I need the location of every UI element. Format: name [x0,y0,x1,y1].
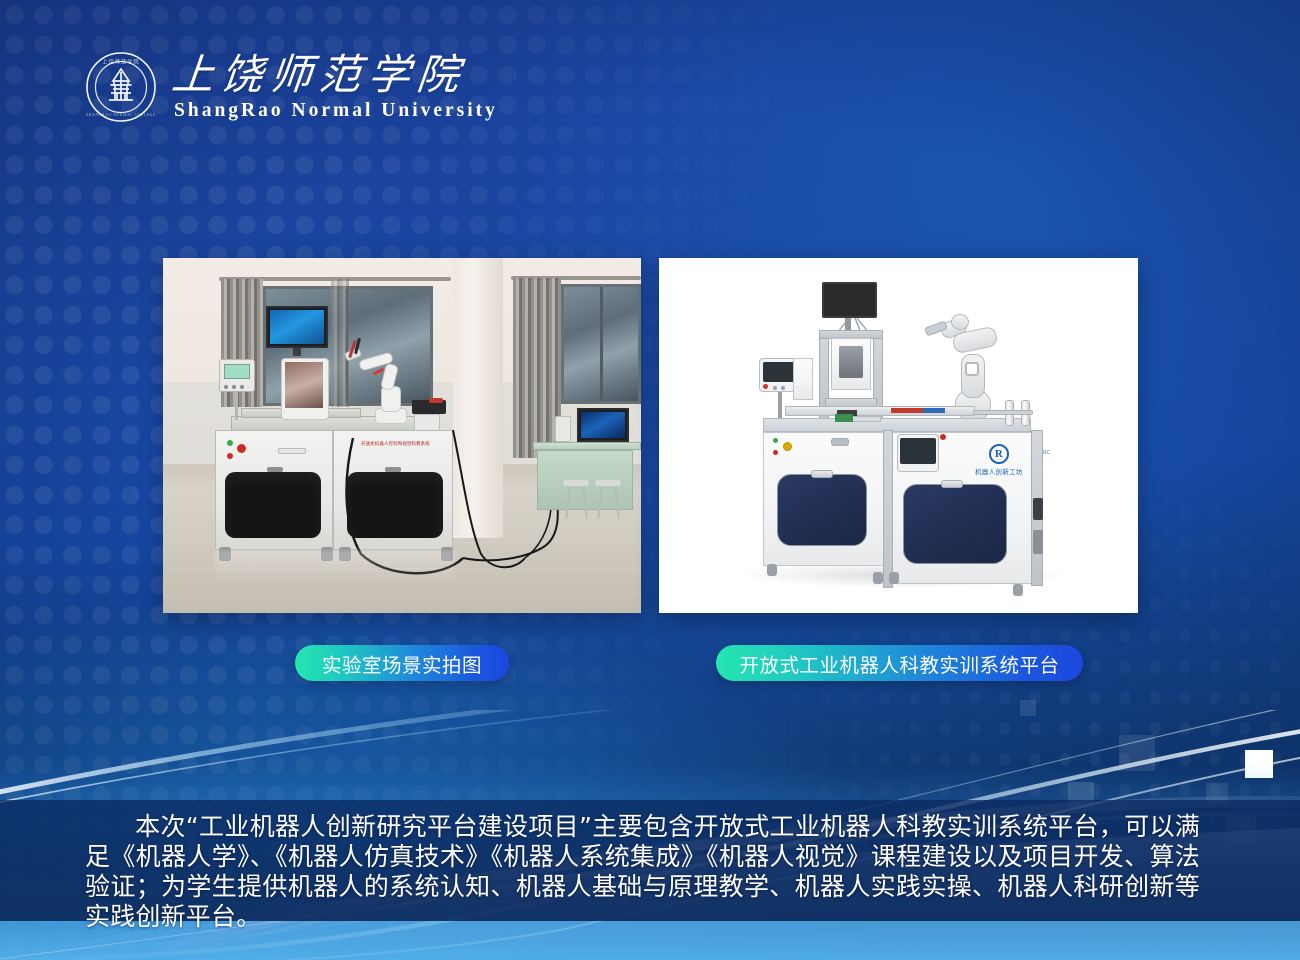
product-hmi-right [897,434,939,472]
caption-pill-product-render[interactable]: 开放式工业机器人科教实训系统平台 [716,645,1083,681]
decor-square [1020,700,1036,716]
lab-photo-scene: 开放式机器人控制和视觉科教系统 [163,258,641,613]
caption-label: 实验室场景实拍图 [322,649,482,678]
lab-desk-monitor [577,408,629,442]
product-render-photo[interactable]: R 机器人创新工坊 RC [659,258,1138,613]
product-door-window-right [903,484,1007,564]
lab-desk [533,442,641,450]
svg-text:上饶师范学院: 上饶师范学院 [102,58,139,66]
caption-label: 开放式工业机器人科教实训系统平台 [739,649,1059,678]
slide-canvas: 上饶师范学院 SHANGRAO NORMAL COLLEGE 上饶师范学院 Sh… [0,0,1300,960]
paragraph-text: 本次“工业机器人创新研究平台建设项目”主要包含开放式工业机器人科教实训系统平台，… [85,812,1200,931]
decor-square [1119,735,1155,771]
product-render-scene: R 机器人创新工坊 RC [659,258,1138,613]
product-door-window-left [777,474,867,546]
decor-square-highlight [1245,750,1273,778]
svg-text:SHANGRAO NORMAL COLLEGE: SHANGRAO NORMAL COLLEGE [86,113,156,117]
university-logo: 上饶师范学院 SHANGRAO NORMAL COLLEGE 上饶师范学院 Sh… [84,50,498,124]
product-monitor [822,282,877,318]
logo-name-en: ShangRao Normal University [172,100,498,122]
description-paragraph: 本次“工业机器人创新研究平台建设项目”主要包含开放式工业机器人科教实训系统平台，… [85,812,1200,932]
university-seal-icon: 上饶师范学院 SHANGRAO NORMAL COLLEGE [84,50,158,124]
logo-name-cn: 上饶师范学院 [170,52,501,98]
lab-photo[interactable]: 开放式机器人控制和视觉科教系统 [163,258,641,613]
brand-mark-icon: R [989,444,1009,464]
brand-text: 机器人创新工坊 [975,466,1023,476]
product-brand-logo: R 机器人创新工坊 [975,444,1023,476]
caption-pill-lab-photo[interactable]: 实验室场景实拍图 [295,645,509,681]
